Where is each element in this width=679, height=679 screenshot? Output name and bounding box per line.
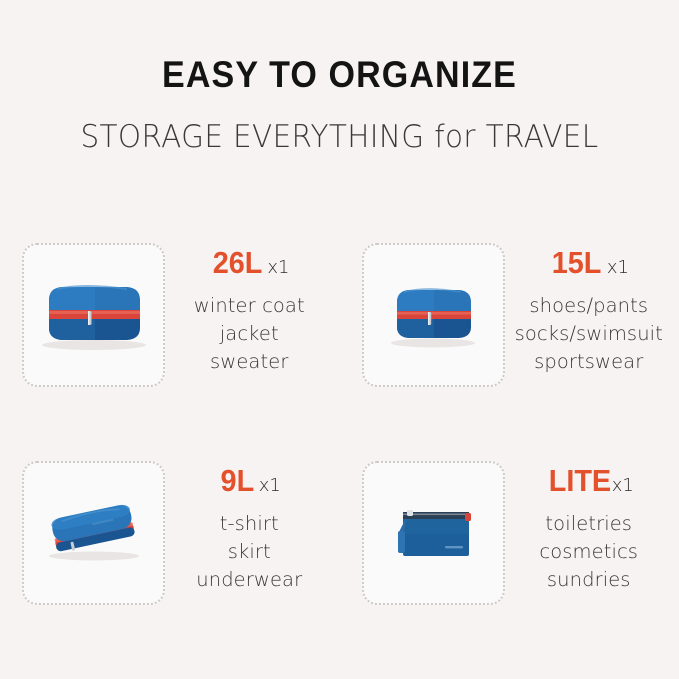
product-grid: 26Lx1 winter coat jacket sweater <box>0 243 679 679</box>
product-description-9l: t-shirt skirt underwear <box>167 510 332 594</box>
volume-label-26l: 26L <box>213 247 263 278</box>
product-thumbnail-9l <box>22 461 165 605</box>
infographic-page: EASY TO ORGANIZE STORAGE EVERYTHING for … <box>0 0 679 679</box>
product-info-15l: 15Lx1 shoes/pants socks/swimsuit sportsw… <box>505 243 679 376</box>
volume-line-26l: 26Lx1 <box>167 247 332 278</box>
product-thumbnail-26l <box>22 243 165 387</box>
description-line: underwear <box>167 566 332 594</box>
product-description-26l: winter coat jacket sweater <box>167 292 332 376</box>
description-line: sundries <box>507 566 672 594</box>
product-info-lite: LITEx1 toiletries cosmetics sundries <box>505 461 679 594</box>
packing-cube-large-icon <box>35 278 153 352</box>
zip-pouch-icon <box>385 502 481 564</box>
quantity-label-26l: x1 <box>267 257 289 278</box>
product-row: 9Lx1 t-shirt skirt underwear <box>0 461 679 679</box>
volume-label-lite: LITE <box>548 465 610 496</box>
product-thumbnail-15l <box>362 243 505 387</box>
description-line: shoes/pants <box>507 292 672 320</box>
page-subtitle: STORAGE EVERYTHING for TRAVEL <box>17 93 662 153</box>
quantity-label-15l: x1 <box>607 257 629 278</box>
header: EASY TO ORGANIZE STORAGE EVERYTHING for … <box>0 0 679 153</box>
description-line: jacket <box>167 320 332 348</box>
description-line: toiletries <box>507 510 672 538</box>
description-line: socks/swimsuit <box>507 320 672 348</box>
description-line: skirt <box>167 538 332 566</box>
page-title: EASY TO ORGANIZE <box>27 56 652 93</box>
product-description-lite: toiletries cosmetics sundries <box>507 510 672 594</box>
packing-cube-small-icon <box>38 499 150 567</box>
description-line: sweater <box>167 348 332 376</box>
volume-line-lite: LITEx1 <box>507 465 672 496</box>
product-description-15l: shoes/pants socks/swimsuit sportswear <box>507 292 672 376</box>
description-line: cosmetics <box>507 538 672 566</box>
quantity-label-lite: x1 <box>612 475 634 496</box>
packing-cube-medium-icon <box>383 280 483 350</box>
volume-label-15l: 15L <box>552 247 602 278</box>
product-cell-15l: 15Lx1 shoes/pants socks/swimsuit sportsw… <box>340 243 679 461</box>
quantity-label-9l: x1 <box>259 475 281 496</box>
product-info-9l: 9Lx1 t-shirt skirt underwear <box>165 461 340 594</box>
product-cell-26l: 26Lx1 winter coat jacket sweater <box>0 243 340 461</box>
product-cell-9l: 9Lx1 t-shirt skirt underwear <box>0 461 340 679</box>
description-line: t-shirt <box>167 510 332 538</box>
description-line: sportswear <box>507 348 672 376</box>
product-thumbnail-lite <box>362 461 505 605</box>
product-cell-lite: LITEx1 toiletries cosmetics sundries <box>340 461 679 679</box>
volume-line-9l: 9Lx1 <box>167 465 332 496</box>
volume-line-15l: 15Lx1 <box>507 247 672 278</box>
product-info-26l: 26Lx1 winter coat jacket sweater <box>165 243 340 376</box>
volume-label-9l: 9L <box>220 465 254 496</box>
product-row: 26Lx1 winter coat jacket sweater <box>0 243 679 461</box>
description-line: winter coat <box>167 292 332 320</box>
